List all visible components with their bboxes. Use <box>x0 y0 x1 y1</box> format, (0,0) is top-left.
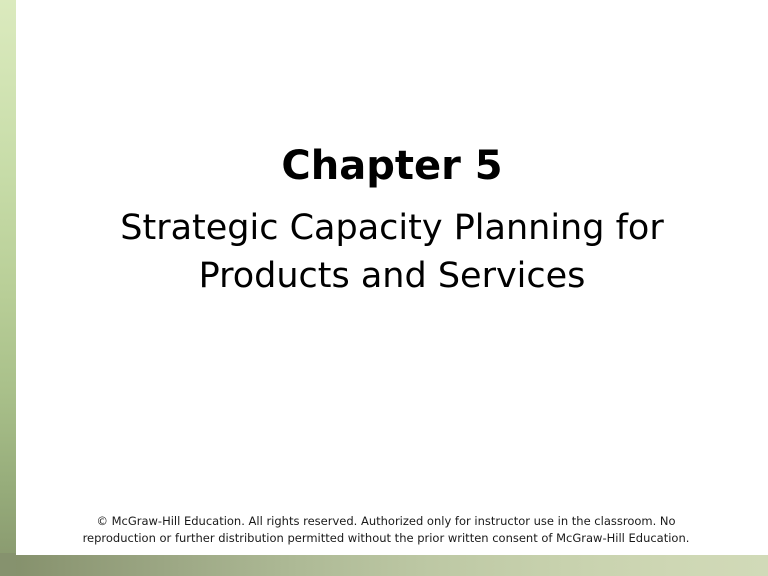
copyright-footer-line-1: © McGraw-Hill Education. All rights rese… <box>30 513 742 530</box>
slide-content-area: Chapter 5 Strategic Capacity Planning fo… <box>16 0 768 576</box>
slide-subtitle-line-1: Strategic Capacity Planning for <box>120 208 663 248</box>
copyright-footer: © McGraw-Hill Education. All rights rese… <box>16 513 756 547</box>
slide-subtitle: Strategic Capacity Planning for Products… <box>16 192 768 300</box>
slide-subtitle-line-2: Products and Services <box>199 256 586 296</box>
bottom-left-band-corner <box>0 553 16 576</box>
presentation-slide: Chapter 5 Strategic Capacity Planning fo… <box>0 0 768 576</box>
title-block: Chapter 5 Strategic Capacity Planning fo… <box>16 140 768 300</box>
copyright-footer-line-2: reproduction or further distribution per… <box>30 530 742 547</box>
left-gradient-band <box>0 0 16 576</box>
page-title: Chapter 5 <box>16 140 768 192</box>
